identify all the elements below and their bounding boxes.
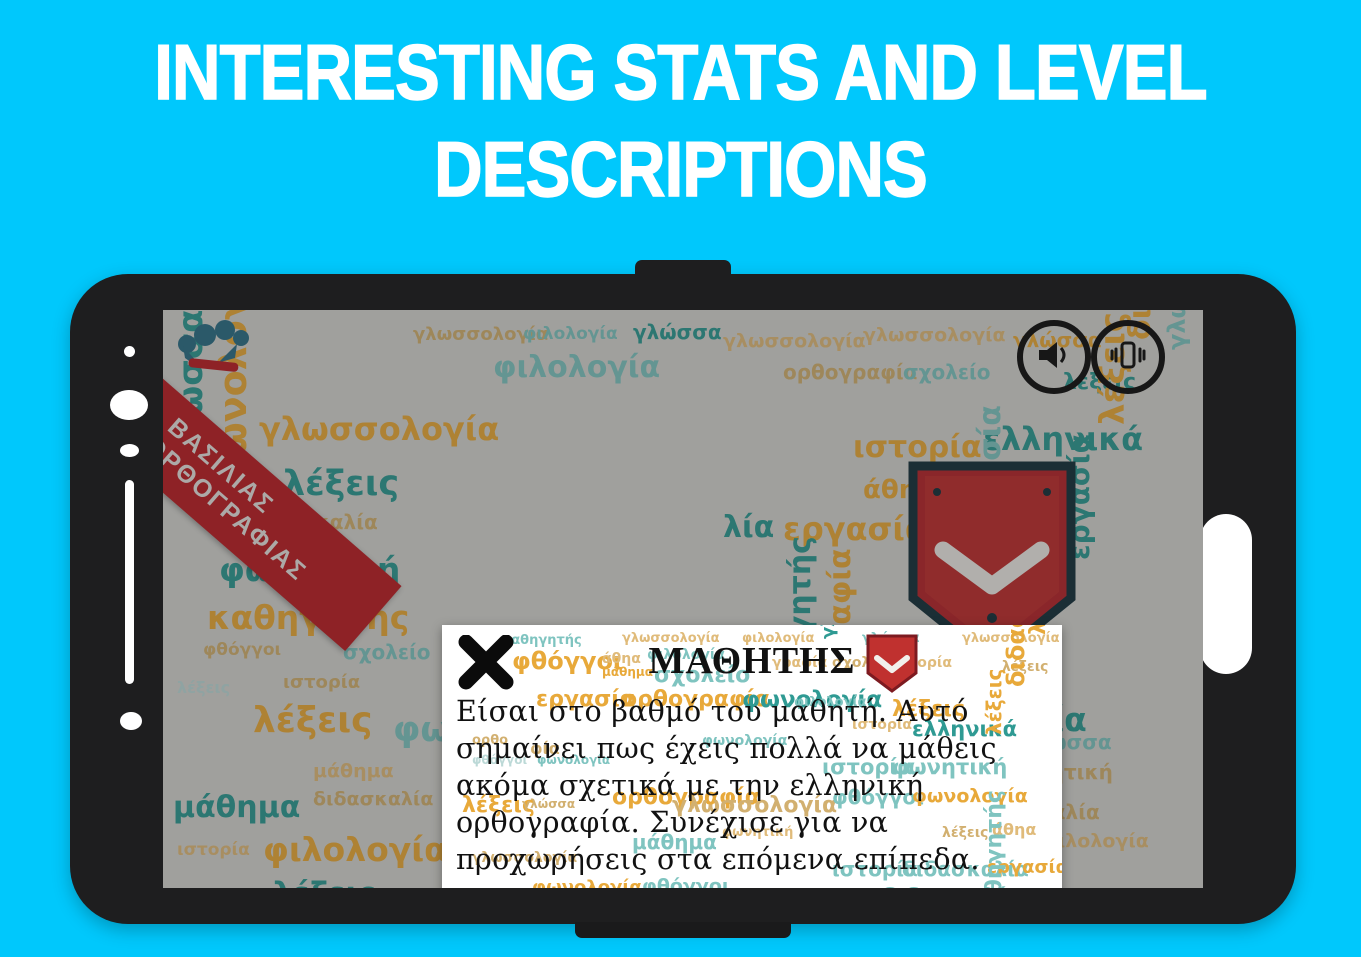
proximity-sensor-icon (120, 444, 139, 457)
device-frame: γλώσσα φωνολογία γλωσσολογία λέξεις διδα… (70, 274, 1296, 924)
sound-toggle-button[interactable] (1017, 320, 1091, 394)
front-camera-icon (110, 390, 148, 420)
power-button[interactable] (1200, 514, 1252, 674)
device-top-tab (635, 260, 731, 276)
crown-icon (175, 318, 249, 374)
dialog-body-text: Είσαι στο βαθμό του μαθητή. Αυτό σημαίνε… (456, 693, 1052, 878)
vibrate-toggle-button[interactable] (1091, 320, 1165, 394)
close-x-icon[interactable] (458, 635, 514, 691)
vibrate-icon (1110, 340, 1146, 375)
speaker-volume-icon (1037, 340, 1071, 375)
shield-badge-icon (864, 633, 920, 695)
app-screen: γλώσσα φωνολογία γλωσσολογία λέξεις διδα… (163, 310, 1203, 888)
level-description-dialog: καθηγητής γλωσσολογία φιλολογία γλώσσα γ… (442, 625, 1062, 888)
dialog-title: ΜΑΘΗΤΗΣ (442, 639, 1062, 683)
page-title: INTERESTING STATS AND LEVEL DESCRIPTIONS (95, 24, 1265, 217)
speaker-bar-icon (125, 480, 134, 684)
device-bottom-tab (575, 922, 791, 938)
microphone-icon (120, 712, 142, 730)
led-indicator-icon (124, 346, 135, 357)
